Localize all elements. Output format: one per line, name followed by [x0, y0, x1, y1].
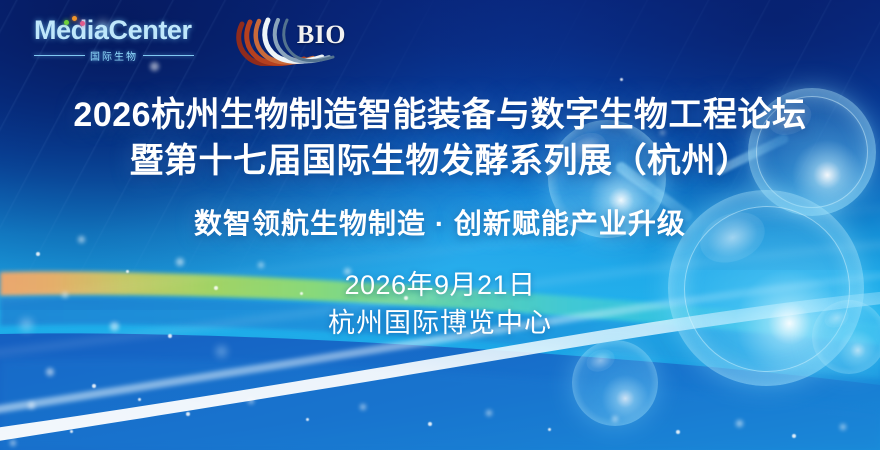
rule-left [34, 55, 85, 57]
event-meta: 2026年9月21日 杭州国际博览中心 [328, 266, 552, 342]
header-logos: MediaCenter 国际生物 BIO [0, 0, 880, 80]
bio-wordmark: BIO [297, 22, 346, 48]
banner-subtitle: 数智领航生物制造 · 创新赋能产业升级 [194, 204, 686, 244]
event-banner: MediaCenter 国际生物 BIO [0, 0, 880, 450]
mediacenter-word-center: Center [109, 15, 192, 45]
event-date: 2026年9月21日 [328, 266, 552, 304]
event-venue: 杭州国际博览中心 [328, 304, 552, 342]
mediacenter-subline: 国际生物 [34, 48, 194, 63]
title-line-1: 2026杭州生物制造智能装备与数字生物工程论坛 [73, 92, 806, 138]
logo-bio[interactable]: BIO [234, 14, 344, 66]
logo-mediacenter[interactable]: MediaCenter 国际生物 [34, 17, 194, 63]
title-line-2: 暨第十七届国际生物发酵系列展（杭州） [130, 138, 751, 184]
mediacenter-chinese-name: 国际生物 [90, 48, 138, 63]
rule-right [143, 55, 194, 57]
mediacenter-dots-icon [64, 16, 90, 26]
mediacenter-wordmark: MediaCenter [34, 17, 194, 44]
